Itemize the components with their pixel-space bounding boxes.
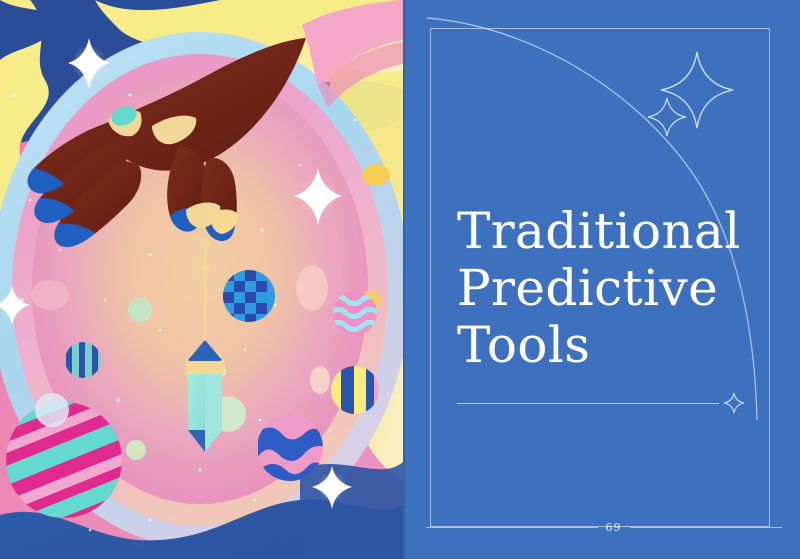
divider-line	[457, 403, 719, 404]
planet-peach-oval	[296, 265, 328, 311]
planet-mint-dot	[128, 298, 152, 322]
page-title: Traditional Predictive Tools	[457, 203, 757, 374]
page-number-rule-left	[426, 527, 598, 528]
page-number-row: 69	[407, 518, 800, 536]
planet-peach-oval-left	[31, 280, 69, 310]
title-line-2: Predictive	[457, 260, 757, 317]
illustration-panel	[0, 0, 403, 559]
title-line-1: Traditional	[457, 203, 757, 260]
page-number: 69	[598, 522, 630, 533]
title-divider	[457, 394, 745, 412]
text-panel: Traditional Predictive Tools 69	[407, 0, 800, 559]
planet-mint-small	[126, 440, 146, 460]
planet-yellow-dot	[362, 164, 390, 186]
title-line-3: Tools	[457, 317, 757, 374]
spread-page: Traditional Predictive Tools 69	[0, 0, 800, 559]
page-number-rule-right	[630, 527, 782, 528]
blue-wave-right	[300, 462, 403, 559]
four-point-star-divider	[723, 392, 745, 414]
cosmic-illustration	[0, 0, 403, 559]
planet-peach-oval-small	[310, 366, 330, 394]
